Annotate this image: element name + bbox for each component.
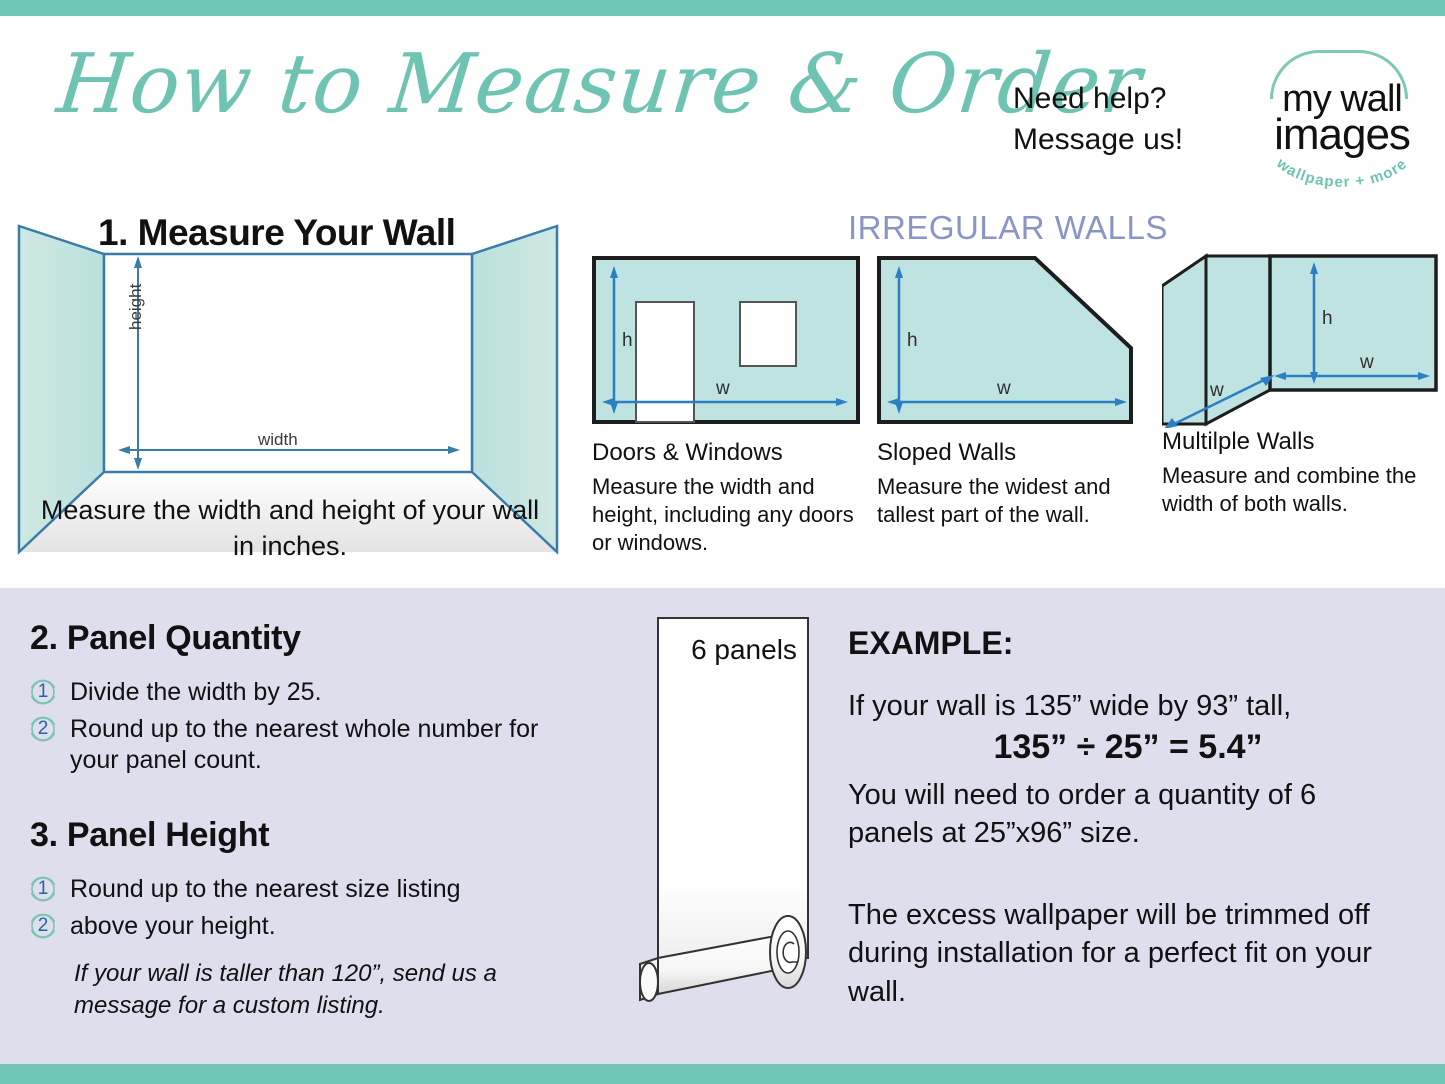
brand-logo: my wall images wallpaper + more xyxy=(1258,48,1426,190)
wallpaper-roll-illustration xyxy=(636,612,836,1037)
logo-tagline: wallpaper + more xyxy=(1266,154,1418,194)
step-number: 2 xyxy=(28,714,58,744)
page-title: How to Measure & Order xyxy=(53,42,992,128)
card-multiple-walls-body: Measure and combine the width of both wa… xyxy=(1162,462,1444,518)
card-doors-windows-body: Measure the width and height, including … xyxy=(592,473,860,557)
step3-item-0-text: Round up to the nearest size listing xyxy=(70,874,461,905)
irregular-walls-heading: IRREGULAR WALLS xyxy=(848,209,1168,247)
need-help-text: Need help? Message us! xyxy=(1013,78,1233,161)
step-number-badge-icon: 1 xyxy=(28,874,58,904)
multiple-walls-figure: h w w xyxy=(1162,228,1444,428)
step2-heading: 2. Panel Quantity xyxy=(30,619,301,658)
step-number-badge-icon: 1 xyxy=(28,677,58,707)
list-item: 2 above your height. xyxy=(28,911,558,942)
step3-item-1-text: above your height. xyxy=(70,911,276,942)
list-item: 2 Round up to the nearest whole number f… xyxy=(28,714,548,776)
mw-w-label: w xyxy=(1359,352,1374,373)
step-number: 1 xyxy=(28,874,58,904)
roll-panel-count-label: 6 panels xyxy=(654,634,834,666)
room-height-label: height xyxy=(126,284,146,330)
step-number-badge-icon: 2 xyxy=(28,714,58,744)
example-line-2: You will need to order a quantity of 6 p… xyxy=(848,776,1408,853)
mw-w2-label: w xyxy=(1209,380,1224,401)
top-accent-bar xyxy=(0,0,1445,16)
card-multiple-walls: h w w Multilple Walls Measure and combin… xyxy=(1162,228,1444,518)
card-sloped-walls-body: Measure the widest and tallest part of t… xyxy=(877,473,1145,529)
example-line-1: If your wall is 135” wide by 93” tall, xyxy=(848,688,1428,726)
step-number: 2 xyxy=(28,911,58,941)
step-number-badge-icon: 2 xyxy=(28,911,58,941)
example-heading: EXAMPLE: xyxy=(848,625,1013,662)
card-sloped-walls-title: Sloped Walls xyxy=(877,439,1145,467)
step3-heading: 3. Panel Height xyxy=(30,816,269,855)
example-line-3: The excess wallpaper will be trimmed off… xyxy=(848,896,1408,1011)
bottom-accent-bar xyxy=(0,1064,1445,1084)
step2-item-1-text: Round up to the nearest whole number for… xyxy=(70,714,540,776)
sw-w-label: w xyxy=(996,378,1011,399)
sloped-walls-figure: h w xyxy=(877,256,1145,429)
step1-caption: Measure the width and height of your wal… xyxy=(40,492,540,564)
step3-list: 1 Round up to the nearest size listing 2… xyxy=(28,874,558,948)
step2-list: 1 Divide the width by 25. 2 Round up to … xyxy=(28,677,548,782)
logo-word-2: images xyxy=(1258,110,1426,160)
room-width-label: width xyxy=(258,430,298,450)
infographic-page: How to Measure & Order Need help? Messag… xyxy=(0,0,1445,1084)
step2-item-0-text: Divide the width by 25. xyxy=(70,677,322,708)
need-help-line2: Message us! xyxy=(1013,119,1233,160)
dw-w-label: w xyxy=(715,378,730,399)
mw-h-label: h xyxy=(1322,308,1333,329)
doors-windows-figure: h w xyxy=(592,256,860,429)
list-item: 1 Divide the width by 25. xyxy=(28,677,548,708)
example-formula: 135” ÷ 25” = 5.4” xyxy=(848,728,1408,767)
card-multiple-walls-title: Multilple Walls xyxy=(1162,428,1444,456)
step3-note: If your wall is taller than 120”, send u… xyxy=(74,958,554,1022)
dw-h-label: h xyxy=(622,330,633,351)
card-doors-windows: h w Doors & Windows Measure the width an… xyxy=(592,256,860,557)
list-item: 1 Round up to the nearest size listing xyxy=(28,874,558,905)
need-help-line1: Need help? xyxy=(1013,78,1233,119)
card-doors-windows-title: Doors & Windows xyxy=(592,439,860,467)
logo-tagline-text: wallpaper + more xyxy=(1272,154,1410,190)
sw-h-label: h xyxy=(907,330,918,351)
step-number: 1 xyxy=(28,677,58,707)
card-sloped-walls: h w Sloped Walls Measure the widest and … xyxy=(877,256,1145,529)
svg-text:wallpaper + more: wallpaper + more xyxy=(1272,154,1410,190)
